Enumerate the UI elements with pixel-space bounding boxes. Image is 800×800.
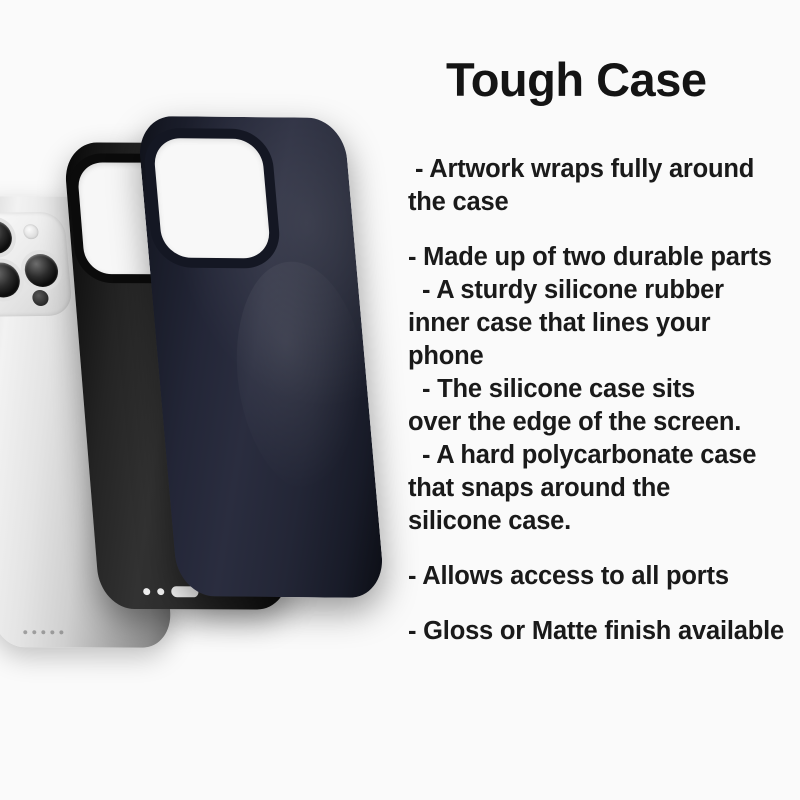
camera-flash-icon <box>32 290 49 306</box>
speaker-hole <box>23 630 27 634</box>
speaker-hole <box>157 588 165 595</box>
feature-line: - A hard polycarbonate case <box>408 439 800 472</box>
feature-group: - Allows access to all ports <box>408 560 800 593</box>
feature-line: over the edge of the screen. <box>408 406 800 439</box>
camera-lens-icon <box>0 262 21 297</box>
speaker-hole <box>41 630 45 634</box>
feature-line: - Allows access to all ports <box>408 560 800 593</box>
camera-lens-icon <box>23 254 59 287</box>
camera-module-silver <box>0 212 73 317</box>
feature-line: - Artwork wraps fully around <box>408 153 800 186</box>
page-title: Tough Case <box>446 52 800 107</box>
speaker-hole <box>50 630 54 634</box>
feature-group: - Made up of two durable parts- A sturdy… <box>408 241 800 538</box>
speaker-hole <box>32 630 36 634</box>
speaker-hole <box>143 588 151 595</box>
feature-line: the case <box>408 186 800 219</box>
case-polycarbonate-outer <box>137 116 386 598</box>
camera-lens-icon <box>0 221 13 254</box>
feature-line: phone <box>408 340 800 373</box>
camera-cutout <box>152 138 271 259</box>
copy-block: Tough Case - Artwork wraps fully aroundt… <box>408 52 800 670</box>
feature-group: - Artwork wraps fully aroundthe case <box>408 153 800 219</box>
feature-line: - Gloss or Matte finish available <box>408 615 800 648</box>
feature-line: - Made up of two durable parts <box>408 241 800 274</box>
feature-line: silicone case. <box>408 505 800 538</box>
speaker-hole <box>59 630 63 634</box>
product-infographic: Tough Case - Artwork wraps fully aroundt… <box>0 0 800 800</box>
feature-line: - The silicone case sits <box>408 373 800 406</box>
lidar-sensor-icon <box>23 224 39 239</box>
speaker-grille <box>23 628 132 636</box>
feature-list: - Artwork wraps fully aroundthe case- Ma… <box>408 153 800 648</box>
feature-line: that snaps around the <box>408 472 800 505</box>
feature-group: - Gloss or Matte finish available <box>408 615 800 648</box>
gloss-highlight <box>228 261 376 493</box>
feature-line: - A sturdy silicone rubber <box>408 274 800 307</box>
feature-line: inner case that lines your <box>408 307 800 340</box>
product-image-group <box>0 0 400 800</box>
